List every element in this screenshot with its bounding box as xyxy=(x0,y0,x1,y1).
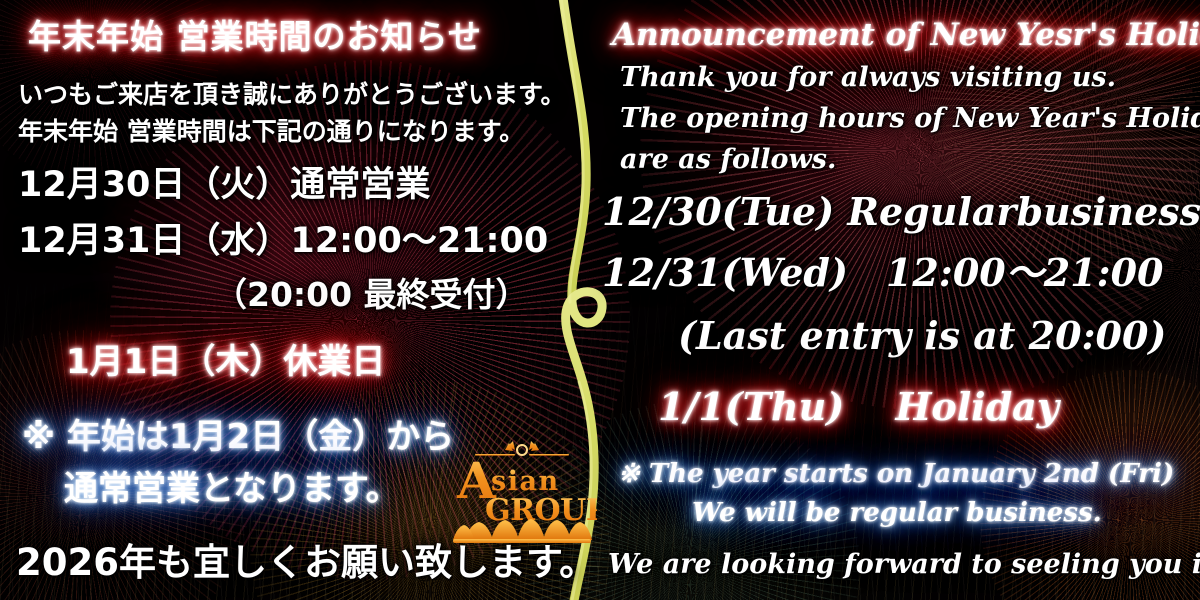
english-panel: Announcement of New Yesr's Holiday Thank… xyxy=(600,0,1200,600)
english-intro-line-1: Thank you for always visiting us. xyxy=(620,64,1116,91)
japanese-schedule-line-4: 1月1日（木）休業日 xyxy=(66,345,385,379)
japanese-panel: 年末年始 営業時間のお知らせ いつもご来店を頂き誠にありがとうございます。 年末… xyxy=(0,0,565,600)
english-intro-line-2: The opening hours of New Year's Holidays xyxy=(620,105,1200,132)
japanese-schedule-line-2: 12月31日（水）12:00〜21:00 xyxy=(18,224,548,259)
japanese-title: 年末年始 営業時間のお知らせ xyxy=(28,20,482,53)
japanese-note-line-2: 通常営業となります。 xyxy=(64,472,400,506)
asian-group-logo: A sian GROUP xyxy=(447,440,597,545)
english-schedule-line-1: 12/30(Tue) Regularbusiness xyxy=(602,193,1200,231)
english-intro-line-3: are as follows. xyxy=(620,146,836,173)
japanese-closing: 2026年も宜しくお願い致します。 xyxy=(16,544,596,581)
english-closing: We are looking forward to seeling you in… xyxy=(608,551,1200,578)
japanese-intro-line-1: いつもご来店を頂き誠にありがとうございます。 xyxy=(18,82,566,107)
english-note-line-2: We will be regular business. xyxy=(692,500,1102,526)
english-schedule-line-3: (Last entry is at 20:00) xyxy=(678,317,1166,355)
english-title: Announcement of New Yesr's Holiday xyxy=(612,20,1200,51)
japanese-note-line-1: ※ 年始は1月2日（金）から xyxy=(22,420,454,454)
japanese-schedule-line-3: （20:00 最終受付） xyxy=(214,278,529,311)
new-year-holiday-poster: 年末年始 営業時間のお知らせ いつもご来店を頂き誠にありがとうございます。 年末… xyxy=(0,0,1200,600)
english-schedule-line-2: 12/31(Wed) 12:00〜21:00 xyxy=(602,254,1164,292)
japanese-intro-line-2: 年末年始 営業時間は下記の通りになります。 xyxy=(18,119,524,144)
japanese-schedule-line-1: 12月30日（火）通常営業 xyxy=(18,168,430,203)
english-note-line-1: ※ The year starts on January 2nd (Fri) xyxy=(618,461,1174,487)
english-schedule-line-4: 1/1(Thu) Holiday xyxy=(658,388,1059,426)
